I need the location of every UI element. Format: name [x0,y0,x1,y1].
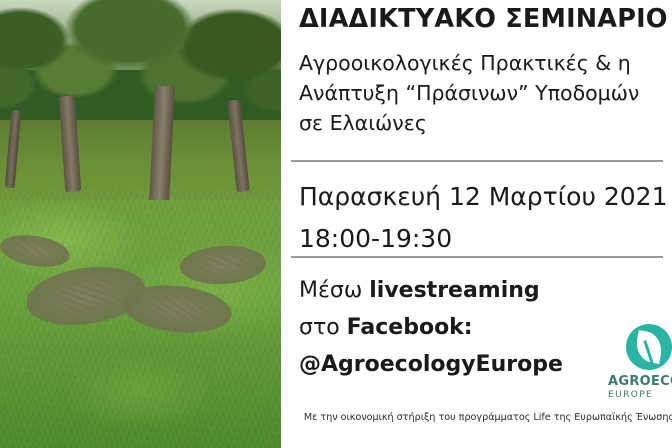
streaming-keyword: livestreaming [369,278,539,303]
event-datetime: Παρασκευή 12 Μαρτίου 2021 18:00-19:30 [299,176,672,260]
poster-subtitle: Αγροοικολογικές Πρακτικές & η Ανάπτυξη “… [299,48,672,138]
subtitle-line-2: Ανάπτυξη “Πράσινων” Υποδομών [299,78,672,108]
event-date: Παρασκευή 12 Μαρτίου 2021 [299,176,672,218]
streaming-prefix: Μέσω [299,278,369,303]
poster-root: ΔΙΑΔΙΚΤΥΑΚΟ ΣΕΜΙΝΑΡΙΟ Αγροοικολογικές Πρ… [0,0,672,448]
divider-top [291,160,663,162]
event-time: 18:00-19:30 [299,218,672,260]
streaming-line-2: στο Facebook: [299,309,659,346]
platform-prefix: στο [299,315,347,340]
subtitle-line-1: Αγροοικολογικές Πρακτικές & η [299,48,672,78]
social-handle[interactable]: @AgroecologyEurope [299,346,659,383]
subtitle-line-3: σε Ελαιώνες [299,108,672,138]
olive-grove-photo [0,0,281,448]
platform-name: Facebook: [347,315,473,340]
logo-wordmark: AGROECOLOGY [608,374,672,389]
leaf-icon [626,324,672,370]
streaming-info: Μέσω livestreaming στο Facebook: @Agroec… [299,272,659,383]
divider-bottom [291,256,663,258]
logo-subtitle: EUROPE [608,390,672,400]
funding-note: Με την οικονομική στήριξη του προγράμματ… [299,411,672,425]
streaming-line-1: Μέσω livestreaming [299,272,659,309]
poster-title: ΔΙΑΔΙΚΤΥΑΚΟ ΣΕΜΙΝΑΡΙΟ [299,4,672,34]
agroecology-europe-logo: AGROECOLOGY EUROPE [608,324,672,408]
